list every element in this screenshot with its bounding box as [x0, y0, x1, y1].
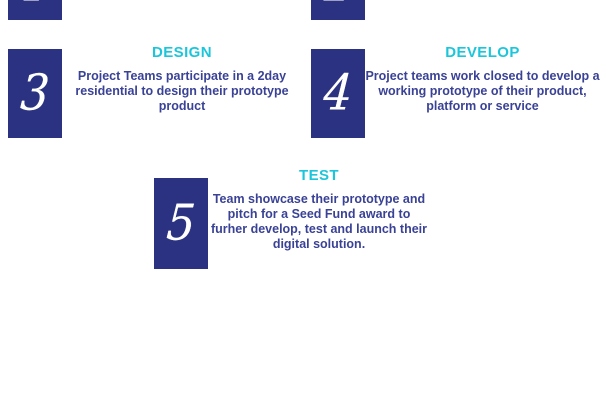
step-5-number-box: 5 [154, 178, 208, 269]
step-3-numeral: 3 [19, 69, 51, 118]
process-infographic: 1 2 challenge. 3 DESIGN Project Teams pa… [0, 0, 600, 400]
step-4-heading: DEVELOP [365, 45, 600, 62]
step-1-numeral: 1 [20, 0, 51, 9]
step-5-numeral: 5 [165, 199, 197, 248]
step-1-number-box: 1 [8, 0, 62, 20]
step-4-number-box: 4 [311, 49, 365, 138]
step-5-heading: TEST [208, 168, 430, 185]
step-3-number-box: 3 [8, 49, 62, 138]
step-3-body: Project Teams participate in a 2day resi… [62, 69, 302, 115]
step-2-numeral: 2 [323, 0, 354, 9]
step-5-text-block: TEST Team showcase their prototype and p… [208, 168, 430, 253]
step-4-body: Project teams work closed to develop a w… [365, 69, 600, 115]
step-3-text-block: DESIGN Project Teams participate in a 2d… [62, 45, 302, 114]
step-3-heading: DESIGN [62, 45, 302, 62]
step-2-number-box: 2 [311, 0, 365, 20]
step-5-body: Team showcase their prototype and pitch … [208, 192, 430, 253]
step-4-numeral: 4 [322, 69, 354, 118]
step-4-text-block: DEVELOP Project teams work closed to dev… [365, 45, 600, 114]
